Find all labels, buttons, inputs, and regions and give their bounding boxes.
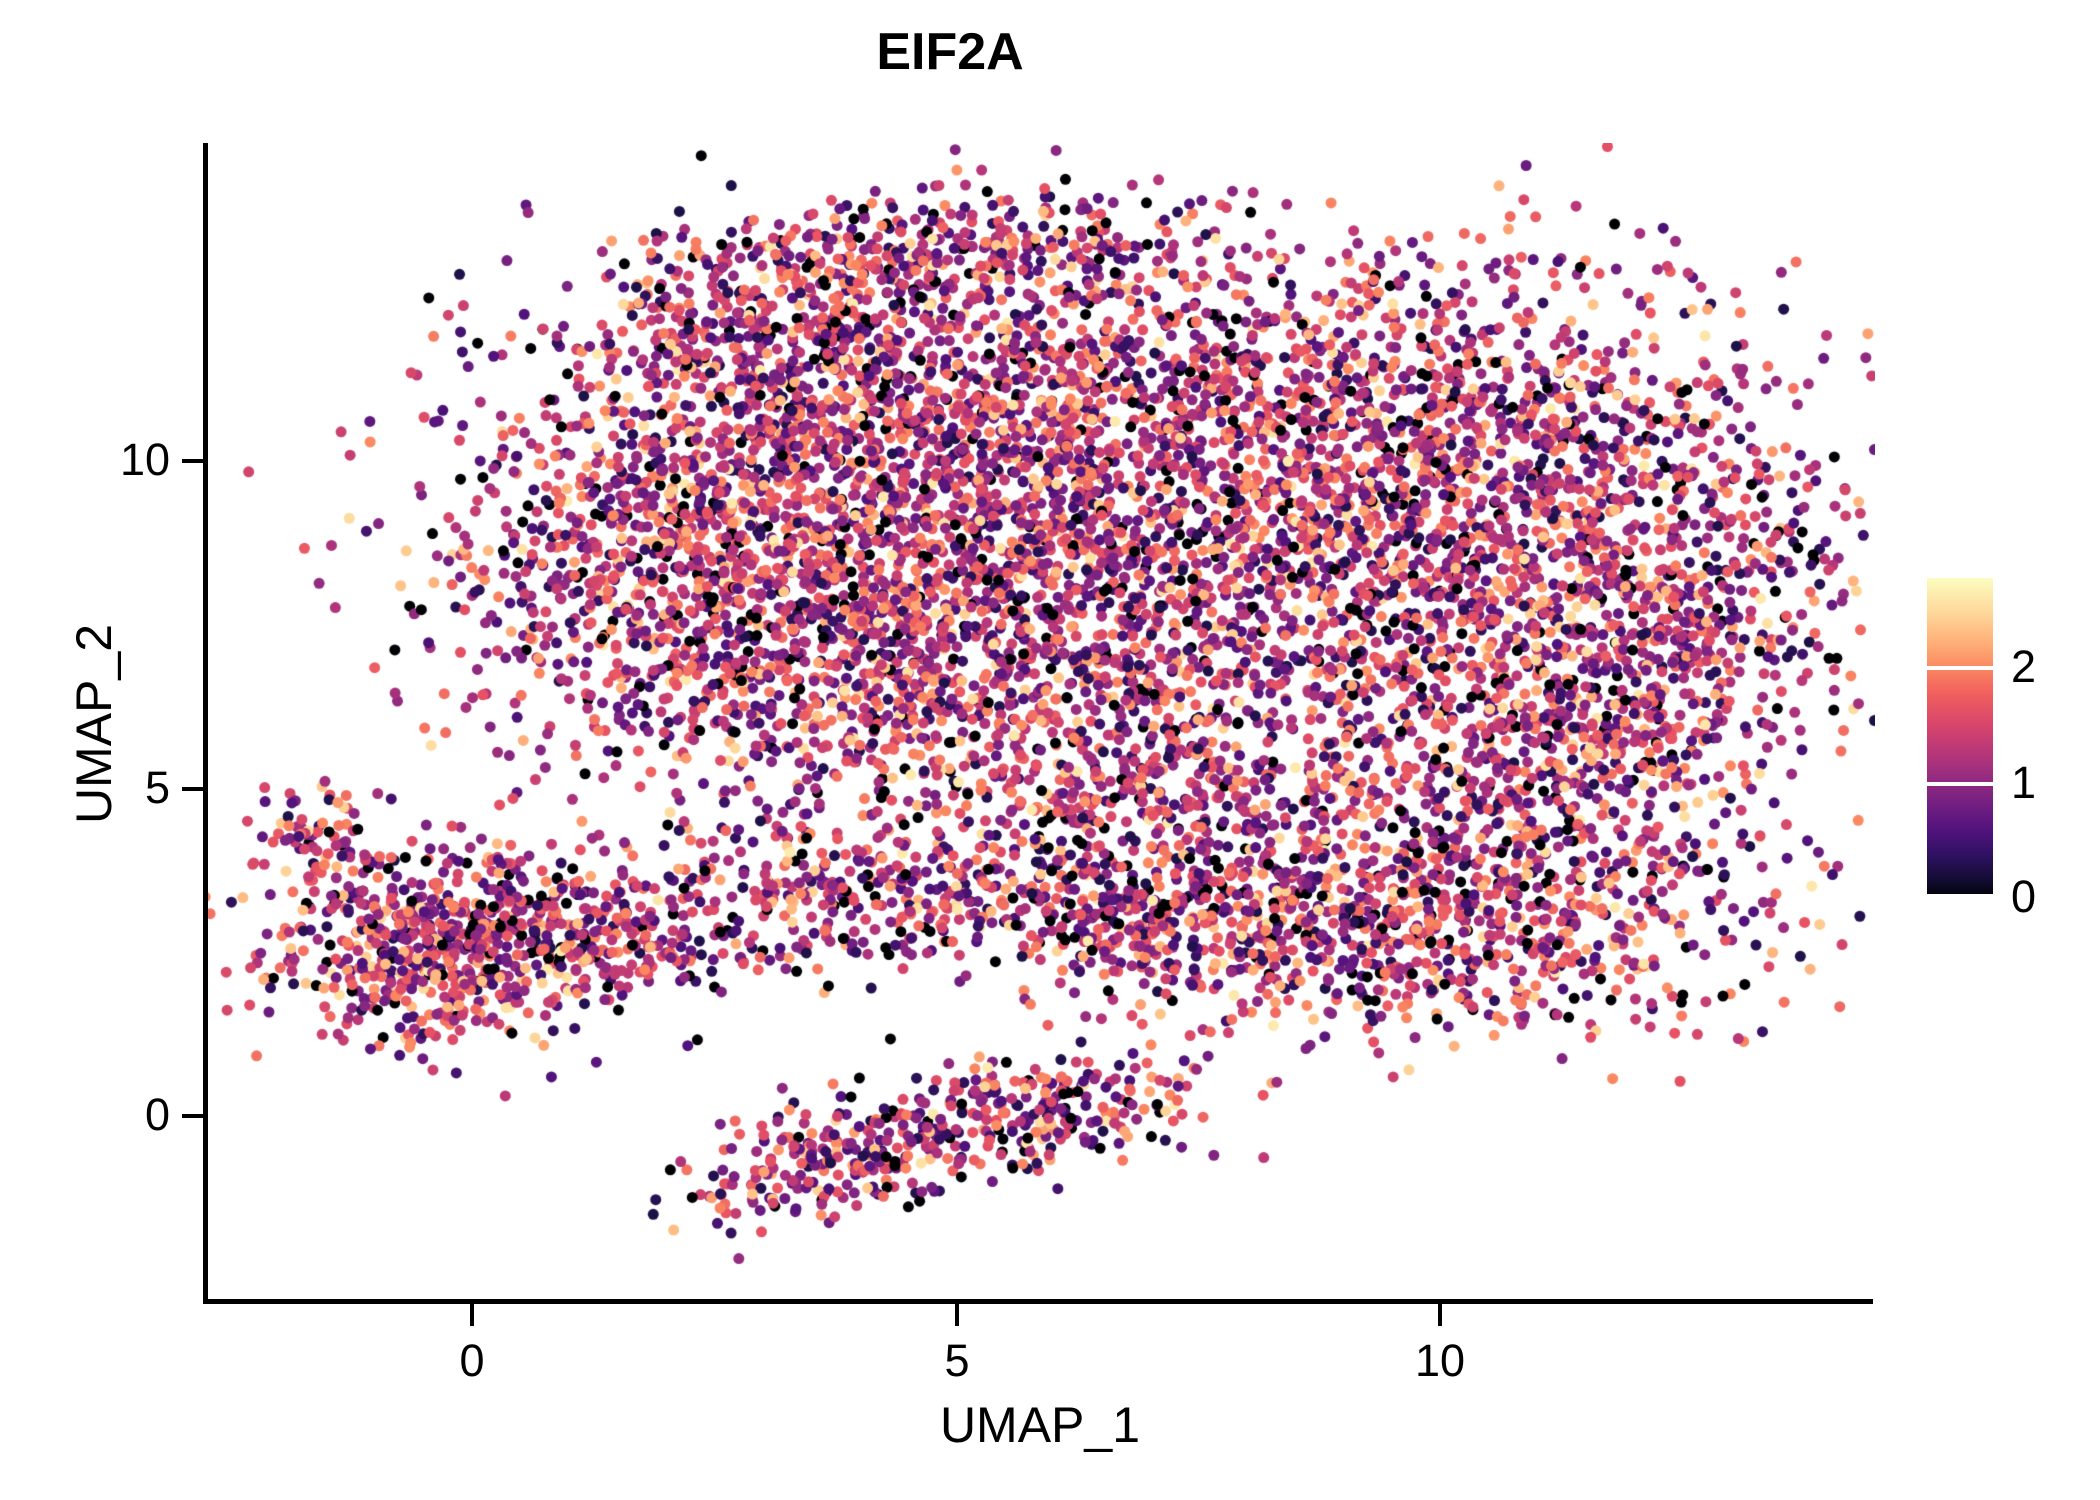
colorbar-tick-1: [1927, 782, 1993, 786]
x-tick-label-0: 0: [412, 1338, 532, 1383]
colorbar-label-0: 0: [2011, 874, 2036, 919]
scatter-points-layer: [205, 143, 1875, 1303]
colorbar-tick-2: [1927, 666, 1993, 670]
y-axis-line: [203, 143, 208, 1304]
page-title: EIF2A: [0, 22, 1900, 82]
y-axis-tick-0: [182, 1114, 204, 1118]
scatter-canvas: [205, 143, 1875, 1303]
x-axis-title: UMAP_1: [205, 1396, 1875, 1454]
colorbar-label-2: 2: [2011, 644, 2036, 689]
y-axis-tick-10: [182, 459, 204, 463]
x-axis-tick-10: [1438, 1304, 1442, 1326]
colorbar-gradient: [1927, 578, 1993, 898]
y-axis-tick-5: [182, 787, 204, 791]
colorbar-label-1: 1: [2011, 760, 2036, 805]
umap-feature-plot: EIF2A 10 5 0 0 5 10 UMAP_1 UMAP_2 2 1 0: [0, 0, 2100, 1500]
x-tick-label-10: 10: [1380, 1338, 1500, 1383]
x-axis-tick-5: [955, 1304, 959, 1326]
x-tick-label-5: 5: [897, 1338, 1017, 1383]
legend-colorbar: 2 1 0: [1927, 578, 2077, 900]
x-axis-line: [203, 1299, 1873, 1304]
colorbar-tick-0: [1927, 894, 1993, 898]
y-axis-title: UMAP_2: [65, 344, 123, 1104]
plot-panel: [205, 143, 1875, 1303]
x-axis-tick-0: [470, 1304, 474, 1326]
